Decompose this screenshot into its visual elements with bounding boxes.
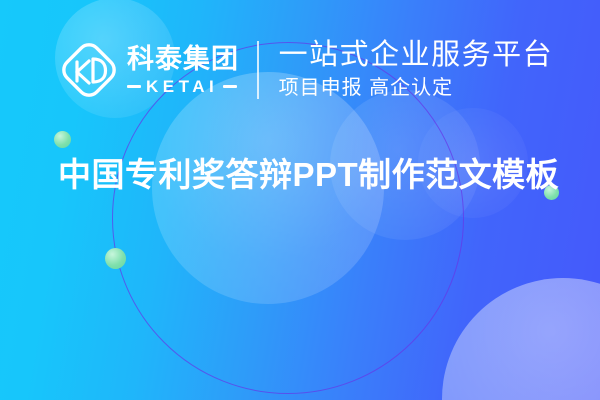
- page-title: 中国专利奖答辩PPT制作范文模板: [58, 148, 568, 201]
- green-dot-lower-left: [105, 248, 126, 269]
- ketai-kd-monogram-logo-icon: [58, 39, 120, 101]
- brand-name-en: KETAI: [146, 78, 218, 95]
- tagline-secondary: 项目申报 高企认定: [279, 76, 554, 101]
- bottom-right-large-circle: [442, 278, 600, 400]
- banner-header: 科泰集团 KETAI 一站式企业服务平台 项目申报 高企认定: [0, 0, 600, 140]
- brand-name-cn: 科泰集团: [127, 46, 239, 73]
- promo-banner: 科泰集团 KETAI 一站式企业服务平台 项目申报 高企认定 中国专利奖答辩PP…: [0, 0, 600, 400]
- brand-name-en-row: KETAI: [127, 78, 239, 95]
- brand-logo[interactable]: 科泰集团 KETAI: [58, 39, 239, 101]
- wordmark-rule-right-icon: [223, 85, 237, 88]
- headline-block: 中国专利奖答辩PPT制作范文模板: [58, 148, 568, 201]
- brand-tagline: 一站式企业服务平台 项目申报 高企认定: [279, 39, 554, 101]
- wordmark-rule-left-icon: [127, 85, 141, 88]
- header-divider: [257, 41, 259, 99]
- tagline-primary: 一站式企业服务平台: [279, 39, 554, 71]
- brand-logo-wordmark: 科泰集团 KETAI: [127, 46, 239, 95]
